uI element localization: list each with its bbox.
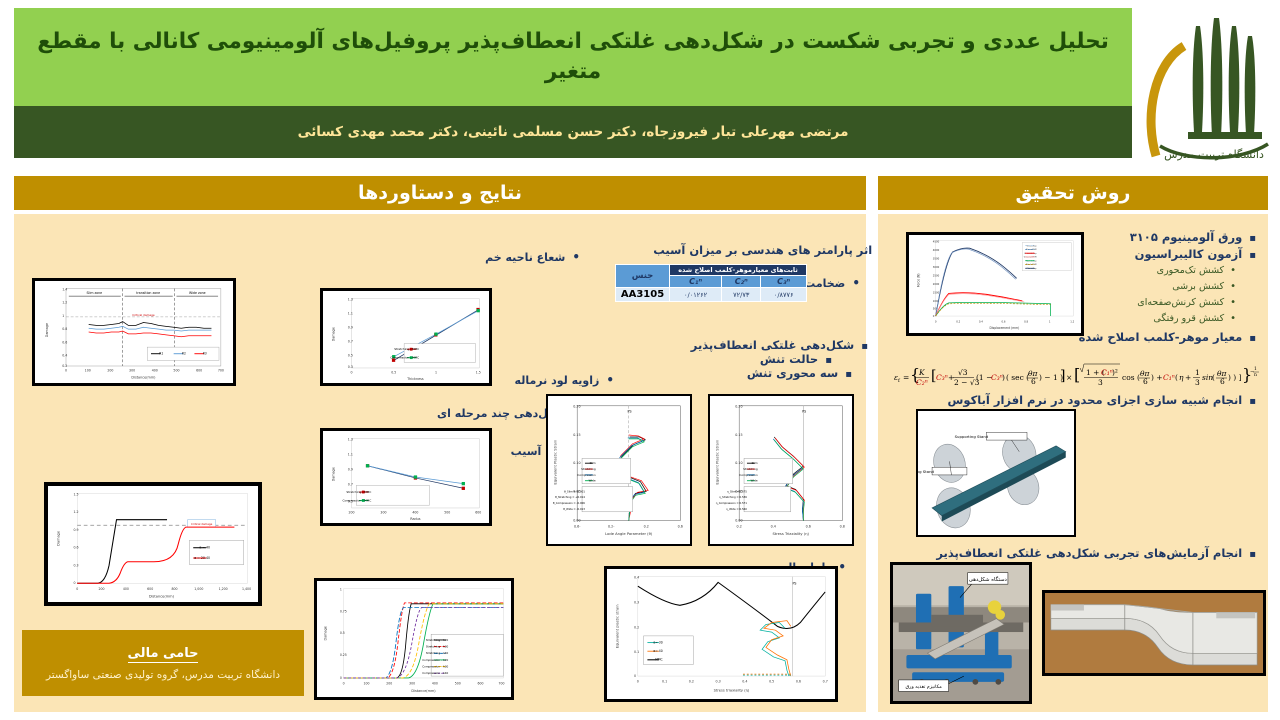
svg-text:0.6: 0.6 (796, 680, 801, 684)
svg-text:Equivalent plastic strain: Equivalent plastic strain (616, 605, 620, 649)
svg-text:1.4: 1.4 (62, 287, 67, 291)
svg-text:0.9: 0.9 (73, 528, 78, 532)
svg-text:Stretching - MMC: Stretching - MMC (394, 347, 419, 351)
svg-text:Stretching - MMC: Stretching - MMC (346, 490, 371, 494)
svg-text:100: 100 (85, 369, 91, 373)
svg-text:3000: 3000 (933, 265, 940, 269)
svg-text:4000: 4000 (933, 248, 940, 252)
svg-text:Compression - MMC: Compression - MMC (342, 498, 371, 502)
svg-text:0.2: 0.2 (62, 364, 67, 368)
svg-text:0.6: 0.6 (62, 340, 67, 344)
svg-text:0.4: 0.4 (634, 576, 639, 580)
svg-text:0.75: 0.75 (340, 609, 347, 613)
svg-text:√3: √3 (958, 368, 968, 377)
svg-text:1.1: 1.1 (348, 311, 353, 315)
svg-text:0.3: 0.3 (716, 680, 721, 684)
svg-text:Stress Triaxiality (η): Stress Triaxiality (η) (772, 532, 809, 536)
svg-text:3500: 3500 (933, 257, 940, 261)
bullet-plane-strain-tension: کشش کرنش‌صفحه‌ای (1137, 297, 1236, 308)
bend-radius-damage-chart: 1.4 1.2 1 0.8 0.6 0.4 0.2 0 100 200 300 … (32, 278, 236, 386)
svg-text:Critical damage: Critical damage (191, 522, 213, 526)
svg-text:0: 0 (76, 587, 78, 591)
svg-text:0.5: 0.5 (348, 354, 353, 358)
abaqus-roll-forming-model: Supporting Stand Forming Stand (916, 409, 1076, 537)
svg-text:α= 40: α= 40 (653, 649, 662, 653)
svg-text:n: n (1254, 373, 1257, 378)
multistage-damage-chart: 1.5 1.2 0.9 0.6 0.3 0 0 200 400 600 800 … (44, 482, 262, 606)
svg-text:=: = (903, 373, 909, 382)
svg-text:6: 6 (1143, 377, 1148, 386)
svg-text:-0.2: -0.2 (608, 524, 615, 528)
svg-text:-0.6: -0.6 (574, 524, 581, 528)
svg-text:0.1: 0.1 (662, 680, 667, 684)
svg-text:θ_Stretching = +0.014: θ_Stretching = +0.014 (555, 495, 585, 499)
table-col-c3: C₃ⁿ (761, 276, 807, 288)
sponsor-box: حامی مالی دانشگاه تربیت مدرس، گروه تولید… (22, 630, 304, 696)
svg-text:0.20: 0.20 (573, 405, 580, 409)
svg-text:800: 800 (171, 587, 177, 591)
svg-text:0.3: 0.3 (348, 365, 353, 369)
thickness-damage-chart: 1.3 1.1 0.9 0.7 0.5 0.3 0 0.5 1 1.5 Thic… (320, 288, 492, 386)
svg-text:0.7: 0.7 (348, 482, 353, 486)
svg-text:1: 1 (62, 314, 64, 318)
svg-text:0.2: 0.2 (689, 680, 694, 684)
svg-text:1500: 1500 (933, 290, 940, 294)
svg-text:0: 0 (73, 581, 75, 585)
section-header-method: روش تحقیق (878, 176, 1268, 210)
svg-text:0.4: 0.4 (62, 354, 67, 358)
svg-text:0.3: 0.3 (634, 600, 639, 604)
svg-text:0.7: 0.7 (823, 680, 828, 684)
svg-text:0.9: 0.9 (348, 326, 353, 330)
svg-text:0.6: 0.6 (806, 524, 811, 528)
bullet-bend-radius: شعاع ناحیه خم (485, 250, 580, 264)
svg-text:300: 300 (380, 511, 386, 515)
svg-text:0.00: 0.00 (573, 519, 580, 523)
svg-text:0: 0 (343, 682, 345, 686)
svg-text:1: 1 (435, 371, 437, 375)
svg-text:1.2: 1.2 (62, 301, 67, 305)
bullet-mmc-criterion: معیار موهر-کلمب اصلاح شده (1079, 330, 1256, 344)
svg-text:Damage: Damage (332, 467, 336, 481)
svg-text:دستگاه شکل‌دهی: دستگاه شکل‌دهی (969, 576, 1008, 583)
svg-text:C₁ⁿ: C₁ⁿ (1163, 373, 1175, 382)
svg-text:PS: PS (802, 410, 806, 414)
svg-text:PS: PS (792, 581, 796, 585)
svg-text:) ) ]: ) ) ] (1228, 373, 1242, 382)
svg-text:R2: R2 (182, 352, 186, 356)
svg-text:1,000: 1,000 (194, 587, 203, 591)
svg-text:(: ( (1175, 373, 1178, 382)
svg-text:)²: )² (1112, 368, 1118, 377)
svg-text:400: 400 (123, 587, 129, 591)
svg-text:6: 6 (1220, 377, 1225, 386)
svg-text:600: 600 (147, 587, 153, 591)
svg-text:1.2: 1.2 (73, 510, 78, 514)
svg-text:Damage: Damage (324, 626, 328, 640)
svg-text:Damage: Damage (332, 327, 336, 341)
svg-text:1: 1 (340, 588, 342, 592)
svg-text:C₂ⁿ: C₂ⁿ (916, 378, 928, 387)
svg-text:0: 0 (340, 676, 342, 680)
bullet-notch-tension: کشش قرو رفتگی (1153, 313, 1236, 324)
svg-text:η: η (1179, 373, 1184, 382)
svg-text:0.10: 0.10 (573, 461, 580, 465)
svg-text:Slim: Slim (590, 461, 596, 465)
svg-text:200: 200 (386, 682, 392, 686)
table-cell-material: AA3105 (616, 288, 670, 302)
table-col-c1: C₁ⁿ (670, 276, 722, 288)
svg-text:دانشگاه تربیت مدرس: دانشگاه تربیت مدرس (1164, 148, 1264, 161)
svg-text:1.1: 1.1 (348, 452, 353, 456)
svg-text:300: 300 (409, 682, 415, 686)
svg-text:3: 3 (1098, 378, 1103, 387)
svg-text:Slim zone: Slim zone (87, 291, 103, 295)
svg-text:R3: R3 (203, 352, 207, 356)
svg-text:Stretching - A20: Stretching - A20 (426, 638, 449, 642)
svg-text:Compression - A40: Compression - A40 (422, 671, 448, 675)
svg-text:PS: PS (628, 410, 632, 414)
bullet-aluminum-sheet: ورق آلومینیوم ۳۱۰۵ (1130, 230, 1256, 244)
svg-text:×: × (1066, 373, 1072, 382)
svg-text:0.8: 0.8 (840, 524, 845, 528)
mmc-fracture-formula: ε f = { K C₂ⁿ [ C₃ⁿ + √3 2 − √3 (1 − C₃ⁿ… (888, 360, 1262, 394)
bullet-stress-triaxiality: سه محوری تنش (747, 366, 852, 380)
svg-text:Wide: Wide (589, 479, 596, 483)
svg-text:0: 0 (634, 674, 636, 678)
svg-text:0.2: 0.2 (634, 625, 639, 629)
authors-list: مرتضی مهرعلی تبار فیروزجاه، دکتر حسن مسل… (298, 124, 849, 140)
bullet-flexible-roll-forming: شکل‌دهی غلتکی انعطاف‌پذیر (691, 338, 868, 352)
svg-text:Slim: Slim (752, 461, 758, 465)
svg-text:0.8: 0.8 (1024, 320, 1028, 324)
svg-text:400: 400 (432, 682, 438, 686)
svg-text:α= 30: α= 30 (653, 641, 662, 645)
sponsor-text: دانشگاه تربیت مدرس، گروه تولیدی صنعتی سا… (46, 669, 280, 681)
svg-text:400: 400 (152, 369, 158, 373)
svg-text:4500: 4500 (933, 240, 940, 244)
svg-text:Stretching: Stretching (743, 467, 758, 471)
svg-text:100: 100 (363, 682, 369, 686)
svg-text:0.10: 0.10 (735, 461, 742, 465)
svg-text:Stretching - A40: Stretching - A40 (426, 651, 449, 655)
svg-text:0.2: 0.2 (644, 524, 649, 528)
svg-text:Forming Stand: Forming Stand (918, 469, 935, 474)
svg-text:0.15: 0.15 (735, 433, 742, 437)
svg-text:200: 200 (107, 369, 113, 373)
bullet-thickness: ضخامت (804, 276, 860, 290)
calibration-force-displacement-chart: 4500 4000 3500 3000 2500 2000 1500 1000 … (906, 232, 1084, 336)
svg-text:Displacement (mm): Displacement (mm) (990, 326, 1020, 330)
svg-text:transition zone: transition zone (136, 291, 160, 295)
svg-text:Compression - A30: Compression - A30 (422, 665, 448, 669)
table-side-header: جنس (616, 265, 670, 288)
bullet-normalized-lode-angle: زاویه لود نرماله (515, 373, 614, 387)
svg-text:Force (N): Force (N) (917, 273, 921, 287)
authors-bar: مرتضی مهرعلی تبار فیروزجاه، دکتر حسن مسل… (14, 106, 1132, 158)
svg-text:Distance(mm): Distance(mm) (149, 594, 175, 598)
svg-text:0.9: 0.9 (348, 467, 353, 471)
svg-text:0.5: 0.5 (391, 371, 396, 375)
table-col-c2: C₂ⁿ (722, 276, 761, 288)
svg-text:]: ] (1060, 368, 1065, 384)
svg-text:Compression - MMC: Compression - MMC (390, 356, 419, 360)
svg-text:600: 600 (196, 369, 202, 373)
svg-text:500: 500 (173, 369, 179, 373)
svg-text:0.4: 0.4 (771, 524, 776, 528)
svg-text:1: 1 (1195, 368, 1200, 377)
svg-text:(: ( (1212, 373, 1215, 382)
section-title-results: نتایج و دستاوردها (358, 182, 522, 204)
svg-text:θ_Slim = -0.001: θ_Slim = -0.001 (564, 489, 585, 493)
svg-text:η_Slim = 0.575: η_Slim = 0.575 (727, 489, 747, 493)
mmc-constants-table: ثابت‌های معیارموهر-کلمب اصلاح شده جنس C₃… (615, 264, 807, 302)
svg-text:Stretching: Stretching (581, 467, 596, 471)
stress-triaxiality-chart: 0.20 0.15 0.10 0.05 0.00 0.2 0.4 0.6 0.8… (708, 394, 854, 546)
transition-radius-damage-chart: 1.3 1.1 0.9 0.7 0.5 200 300 400 500 600 … (320, 428, 492, 526)
svg-text:3: 3 (1195, 378, 1200, 387)
svg-text:1: 1 (1254, 366, 1257, 372)
svg-text:1.5: 1.5 (73, 492, 78, 496)
svg-text:0.1: 0.1 (634, 650, 639, 654)
table-group-header: ثابت‌های معیارموهر-کلمب اصلاح شده (670, 265, 807, 276)
svg-text:η_Wide = 0.560: η_Wide = 0.560 (726, 507, 747, 511)
svg-text:Distance(mm): Distance(mm) (131, 375, 156, 379)
poster-title-bar: تحلیل عددی و تجربی شکست در شکل‌دهی غلتکی… (14, 8, 1132, 106)
svg-text:) +: ) + (1151, 373, 1163, 382)
svg-text:Damage: Damage (45, 323, 49, 337)
bullet-uniaxial-tension: کشش تک‌محوری (1157, 265, 1236, 276)
section-header-results: نتایج و دستاوردها (14, 176, 866, 210)
svg-text:0.6: 0.6 (1001, 320, 1005, 324)
svg-text:2000: 2000 (933, 282, 940, 286)
table-cell-c2: ۷۲/۷۳ (722, 288, 761, 302)
bullet-shear-tension: کشش برشی (1172, 281, 1236, 292)
svg-text:200: 200 (349, 511, 355, 515)
svg-text:0.2: 0.2 (737, 524, 742, 528)
forming-machine-photo: دستگاه شکل‌دهی مکانیزم تغذیه ورق (890, 562, 1032, 704)
svg-text:Lode Angle Parameter (θ): Lode Angle Parameter (θ) (605, 532, 653, 536)
svg-text:Stress triaxiality (η): Stress triaxiality (η) (714, 688, 750, 692)
svg-text:0.4: 0.4 (742, 680, 747, 684)
svg-text:200: 200 (99, 587, 105, 591)
damage-triaxiality-mmc-chart: 0.4 0.3 0.2 0.1 0 0 0.1 0.2 0.3 0.4 0.5 … (604, 566, 838, 702)
svg-text:0.6: 0.6 (73, 546, 78, 550)
svg-text:): ) (1002, 373, 1005, 382)
svg-text:Radus: Radus (410, 517, 421, 521)
svg-text:θ_Wide = -0.013: θ_Wide = -0.013 (563, 507, 585, 511)
page-title: تحلیل عددی و تجربی شکست در شکل‌دهی غلتکی… (36, 27, 1110, 86)
svg-text:η_Compression = 0.571: η_Compression = 0.571 (716, 501, 748, 505)
lode-angle-parameter-chart: 0.20 0.15 0.10 0.05 0.00 -0.6 -0.2 0.2 0… (546, 394, 692, 546)
table-row: ۰/۸۷۷۶ ۷۲/۷۳ ۰/۰۱۲۶۲ AA3105 (616, 288, 807, 302)
svg-text:0.2: 0.2 (956, 320, 960, 324)
svg-text:+: + (1185, 373, 1191, 382)
svg-text:1.2: 1.2 (1070, 320, 1074, 324)
svg-text:0.00: 0.00 (735, 519, 742, 523)
svg-text:Equivalent Plastic Strain: Equivalent Plastic Strain (716, 439, 720, 484)
svg-text:Compression: Compression (739, 473, 757, 477)
svg-text:[: [ (1074, 365, 1080, 384)
formed-profile-photo (1042, 590, 1266, 676)
svg-text:1,200: 1,200 (219, 587, 228, 591)
svg-text:Supporting Stand: Supporting Stand (955, 434, 989, 439)
svg-text:مکانیزم تغذیه ورق: مکانیزم تغذیه ورق (905, 684, 942, 690)
svg-text:Thickness: Thickness (406, 377, 424, 381)
poster-root: تحلیل عددی و تجربی شکست در شکل‌دهی غلتکی… (0, 0, 1280, 720)
svg-text:K: K (918, 368, 925, 377)
svg-text:Equivalent Plastic Strain: Equivalent Plastic Strain (554, 439, 558, 484)
svg-text:0.5: 0.5 (769, 680, 774, 684)
svg-text:400: 400 (412, 511, 418, 515)
svg-text:6: 6 (1031, 377, 1036, 386)
svg-text:η_Stretching = 0.536: η_Stretching = 0.536 (719, 495, 747, 499)
svg-text:0: 0 (351, 371, 353, 375)
svg-text:0.5: 0.5 (340, 631, 345, 635)
svg-text:0.8: 0.8 (62, 327, 67, 331)
svg-text:α = 20-40: α = 20-40 (194, 556, 210, 560)
table-cell-c1: ۰/۰۱۲۶۲ (670, 288, 722, 302)
svg-text:1,400: 1,400 (242, 587, 251, 591)
svg-text:(1 −: (1 − (976, 373, 992, 382)
bullet-geometric-parameters: اثر پارامتر های هندسی بر میزان آسیب (653, 243, 886, 257)
svg-text:Damage: Damage (56, 531, 60, 546)
svg-text:( sec (: ( sec ( (1006, 373, 1029, 382)
svg-text:600: 600 (475, 511, 481, 515)
svg-text:C₃ⁿ: C₃ⁿ (936, 373, 948, 382)
svg-text:1.5: 1.5 (476, 371, 481, 375)
svg-text:300: 300 (129, 369, 135, 373)
svg-text:Distance(mm): Distance(mm) (411, 689, 436, 693)
bullet-experimental-tests: انجام آزمایش‌های تجربی شکل‌دهی غلتکی انع… (936, 546, 1256, 560)
svg-text:Critical damage: Critical damage (132, 313, 155, 317)
section-title-method: روش تحقیق (1016, 182, 1131, 204)
svg-text:1.3: 1.3 (348, 437, 353, 441)
svg-text:0: 0 (65, 369, 67, 373)
svg-text:Wide zone: Wide zone (189, 291, 206, 295)
svg-text:700: 700 (218, 369, 224, 373)
svg-text:cos (: cos ( (1122, 373, 1140, 382)
svg-text:0.25: 0.25 (340, 653, 347, 657)
svg-text:0.15: 0.15 (573, 433, 580, 437)
svg-text:500: 500 (444, 511, 450, 515)
bullet-stress-state: حالت تنش (760, 352, 832, 366)
svg-text:600: 600 (478, 682, 484, 686)
svg-text:0.7: 0.7 (348, 340, 353, 344)
bullet-fem-simulation: انجام شبیه سازی اجزای محدود در نرم افزار… (948, 393, 1257, 407)
svg-text:700: 700 (498, 682, 504, 686)
bullet-calibration-test: آزمون کالیبراسیون (1135, 247, 1256, 261)
table-cell-c3: ۰/۸۷۷۶ (761, 288, 807, 302)
svg-text:θ_Compression = -0.006: θ_Compression = -0.006 (553, 501, 585, 505)
svg-text:0.4: 0.4 (979, 320, 983, 324)
svg-text:Compression: Compression (577, 473, 595, 477)
svg-text:0.20: 0.20 (735, 405, 742, 409)
svg-text:2500: 2500 (933, 273, 940, 277)
svg-text:500: 500 (455, 682, 461, 686)
flange-length-damage-chart: 1 0.75 0.5 0.25 0 0 100 200 300 400 500 … (314, 578, 514, 700)
svg-text:0.3: 0.3 (73, 563, 78, 567)
svg-text:1.3: 1.3 (348, 297, 353, 301)
svg-text:f: f (898, 378, 901, 384)
svg-text:0: 0 (637, 680, 639, 684)
svg-text:Wide: Wide (751, 479, 758, 483)
svg-text:α = 40: α = 40 (199, 546, 210, 550)
svg-text:Compression - A20: Compression - A20 (422, 658, 448, 662)
sponsor-title: حامی مالی (128, 646, 199, 663)
svg-text:0.6: 0.6 (678, 524, 683, 528)
svg-text:Stretching - A30: Stretching - A30 (426, 645, 449, 649)
svg-text:R1: R1 (159, 352, 163, 356)
university-logo: دانشگاه تربیت مدرس (1136, 6, 1276, 166)
svg-text:MMC: MMC (655, 658, 662, 662)
